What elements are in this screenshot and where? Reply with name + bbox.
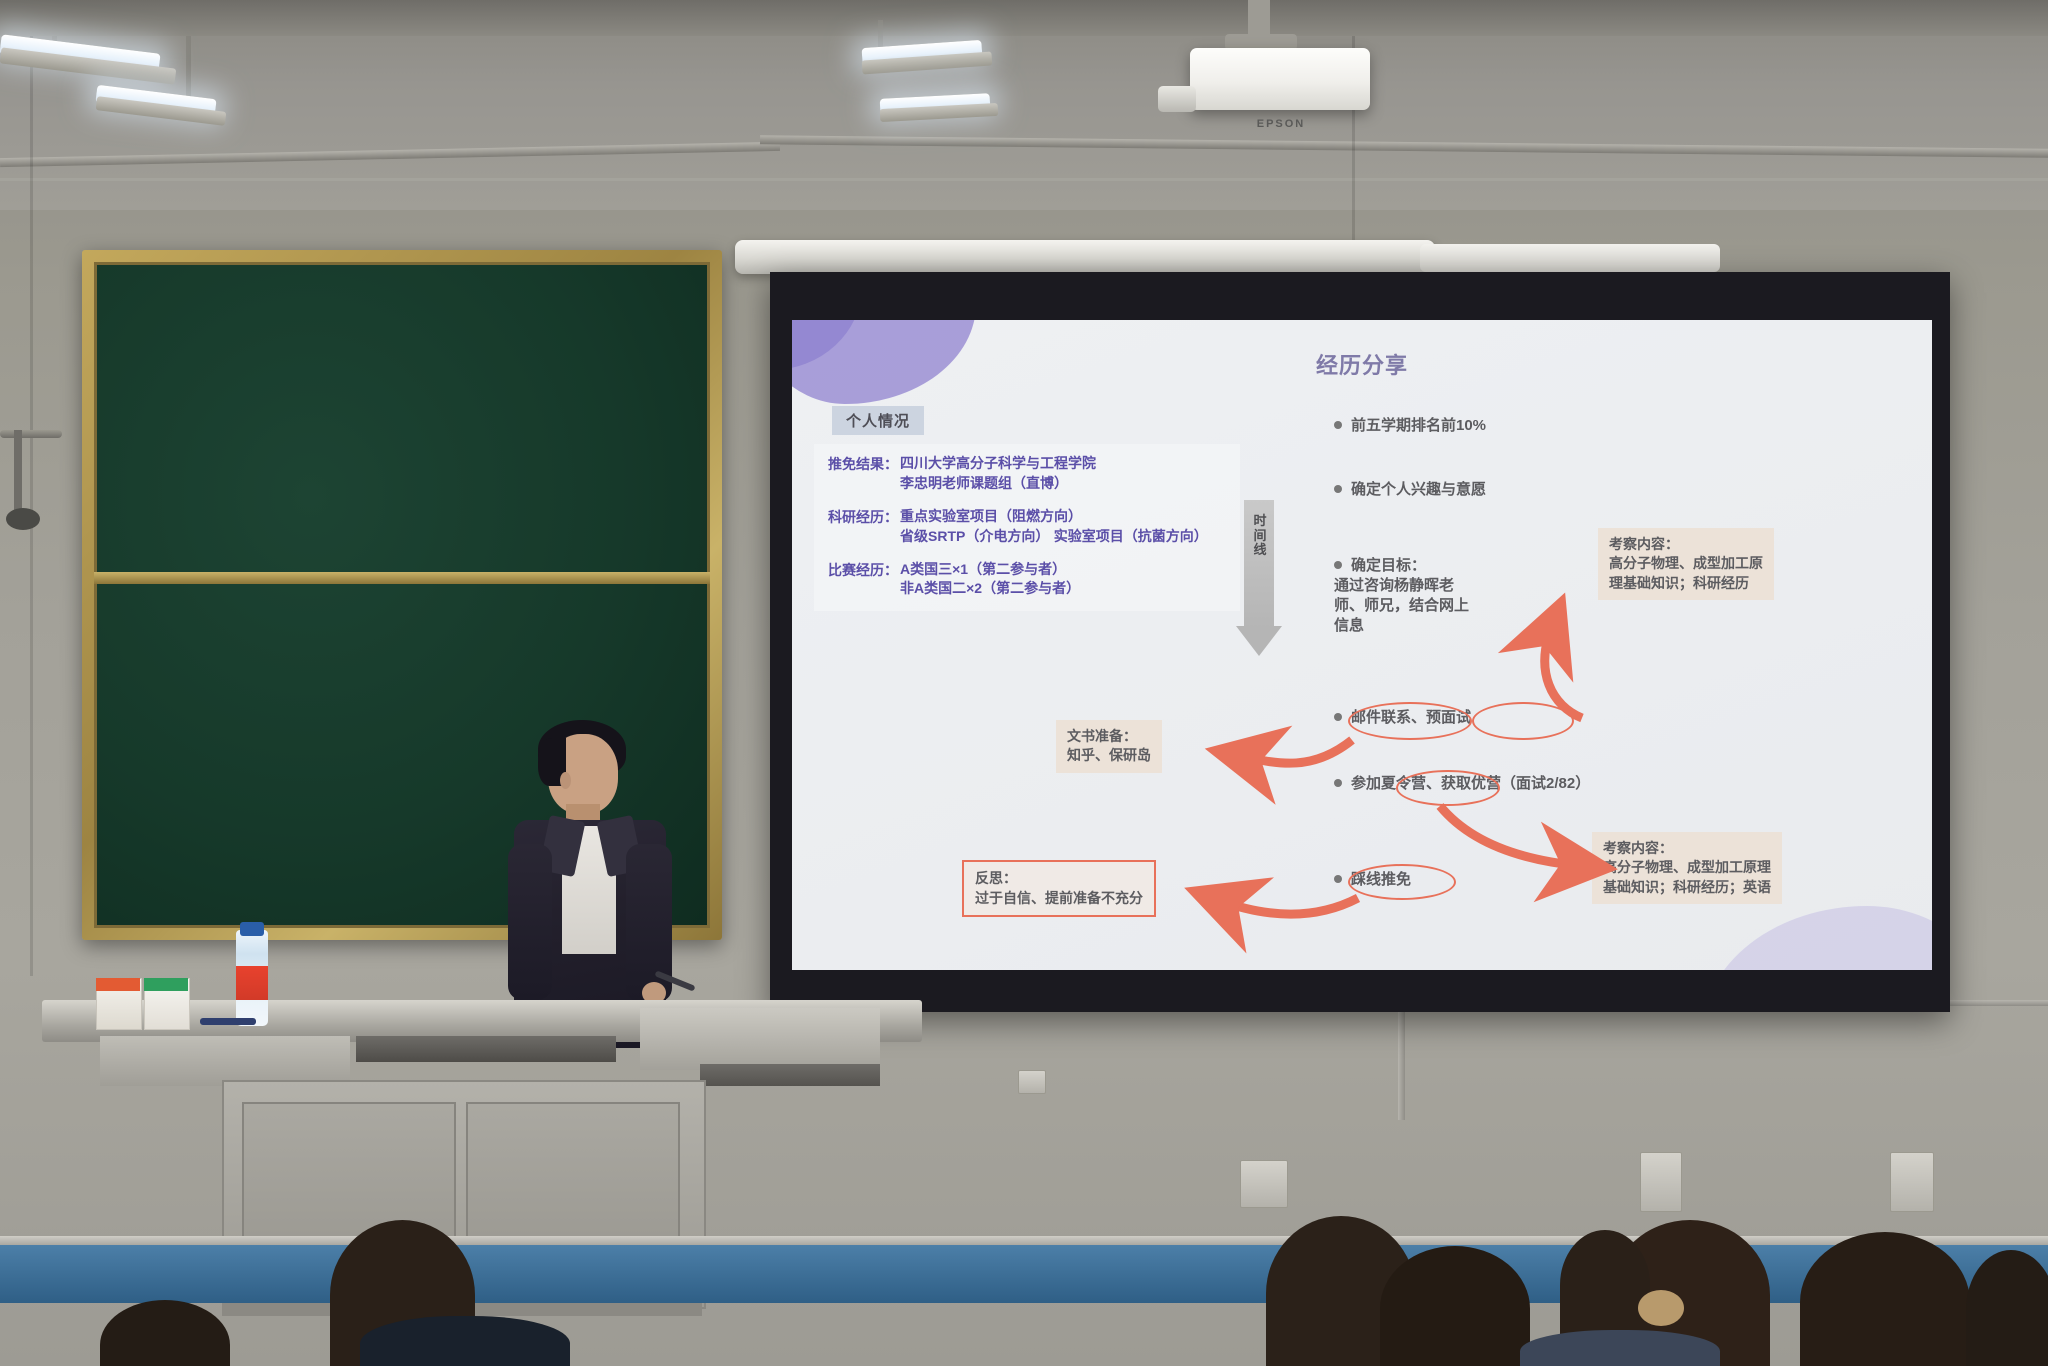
wall-trim-line: [0, 178, 2048, 181]
info-value: 省级SRTP（介电方向）: [900, 528, 1049, 544]
bullet-dot-icon: [1334, 561, 1342, 569]
info-value: 李忠明老师课题组（直博）: [900, 475, 1068, 491]
highlight-ellipse-admission: [1348, 864, 1456, 900]
box-reflection: 反思： 过于自信、提前准备不充分: [962, 860, 1156, 917]
bottle-cap: [240, 922, 264, 936]
highlight-ellipse-pre-interview: [1472, 702, 1574, 740]
audience-head-7: [1560, 1230, 1650, 1340]
box-line: 知乎、保研岛: [1067, 746, 1151, 765]
box-line: 过于自信、提前准备不充分: [975, 889, 1143, 909]
presenter-arm-left: [508, 844, 552, 1000]
timeline-arrow-head: [1236, 626, 1282, 656]
timeline-arrow: 时间线: [1244, 500, 1274, 660]
bullet-subline: 通过咨询杨静晖老: [1334, 576, 1469, 596]
bullet-dot-icon: [1334, 875, 1342, 883]
arrow-to-exam-lower: [1440, 806, 1582, 866]
audience-body-2: [1520, 1330, 1720, 1366]
bullet-goal: 确定目标： 通过咨询杨静晖老 师、师兄，结合网上 信息: [1334, 556, 1469, 636]
bullet-text: 前五学期排名前10%: [1351, 417, 1486, 434]
screen-roller-case: [735, 240, 1435, 274]
arrow-to-reflection: [1218, 898, 1358, 914]
box-line: 基础知识；科研经历；英语: [1603, 878, 1771, 897]
box-exam-content-upper: 考察内容： 高分子物理、成型加工原 理基础知识；科研经历: [1598, 528, 1774, 600]
wall-socket-2[interactable]: [1640, 1152, 1682, 1212]
projector-brand-label: EPSON: [1236, 118, 1326, 130]
bottle-label: [236, 966, 268, 1000]
info-value: 非A类国二×2（第二参与者）: [900, 580, 1080, 596]
bullet-dot-icon: [1334, 779, 1342, 787]
audience-head-8: [1966, 1250, 2048, 1366]
podium-side-panel: [100, 1036, 350, 1086]
ceiling-shadow-band: [0, 0, 2048, 36]
projector: [1190, 48, 1370, 110]
wall-socket-3[interactable]: [1890, 1152, 1934, 1212]
audience-body-1: [360, 1316, 570, 1366]
slide-decor-blob-bottom-right: [1702, 906, 1932, 970]
hair-clip: [1638, 1290, 1684, 1326]
box-exam-content-lower: 考察内容： 高分子物理、成型加工原理 基础知识；科研经历；英语: [1592, 832, 1782, 904]
info-value: 重点实验室项目（阻燃方向）: [900, 508, 1082, 524]
info-row-research: 科研经历： 重点实验室项目（阻燃方向） 省级SRTP（介电方向） 实验室项目（抗…: [828, 507, 1228, 547]
projector-lens: [1158, 86, 1196, 112]
chalk-box-left-lid: [96, 978, 140, 991]
bullet-subline: 信息: [1334, 616, 1469, 636]
projected-slide: 经历分享 个人情况 推免结果： 四川大学高分子科学与工程学院 李忠明老师课题组（…: [792, 320, 1932, 970]
box-line: 高分子物理、成型加工原理: [1603, 858, 1771, 877]
arrow-to-document-prep: [1240, 740, 1352, 763]
info-value: A类国三×1（第二参与者）: [900, 561, 1066, 577]
lamp-rod-3: [878, 20, 883, 50]
slide-title: 经历分享: [792, 348, 1932, 380]
box-line: 考察内容：: [1603, 839, 1771, 858]
info-row-admission: 推免结果： 四川大学高分子科学与工程学院 李忠明老师课题组（直博）: [828, 454, 1228, 494]
box-line: 文书准备：: [1067, 727, 1151, 746]
box-line: 考察内容：: [1609, 535, 1763, 554]
info-values-research: 重点实验室项目（阻燃方向） 省级SRTP（介电方向） 实验室项目（抗菌方向）: [900, 507, 1228, 547]
info-row-competition: 比赛经历： A类国三×1（第二参与者） 非A类国二×2（第二参与者）: [828, 560, 1228, 600]
bullet-dot-icon: [1334, 713, 1342, 721]
bullet-text: 确定个人兴趣与意愿: [1351, 481, 1486, 498]
board-arm-vertical: [14, 430, 22, 510]
box-document-prep: 文书准备： 知乎、保研岛: [1056, 720, 1162, 773]
info-key-research: 科研经历：: [828, 507, 898, 547]
wall-conduit-vertical: [1398, 1000, 1405, 1120]
classroom-photo: EPSON 经历分享 个人情况 推免结果： 四川大学高分子科学与工程学院 李忠明…: [0, 0, 2048, 1366]
wall-socket-small[interactable]: [1018, 1070, 1046, 1094]
bullet-text: 确定目标：: [1351, 557, 1426, 574]
box-line: 反思：: [975, 869, 1143, 889]
screen-roller-case-right: [1420, 244, 1720, 272]
box-line: 理基础知识；科研经历: [1609, 574, 1763, 593]
box-line: 高分子物理、成型加工原: [1609, 554, 1763, 573]
info-key-competition: 比赛经历：: [828, 560, 898, 600]
keyboard-tray-right: [700, 1064, 880, 1086]
highlight-ellipse-email: [1348, 702, 1472, 740]
wall-socket-1[interactable]: [1240, 1160, 1288, 1208]
bullet-dot-icon: [1334, 421, 1342, 429]
keyboard-tray: [356, 1036, 616, 1062]
timeline-label: 时间线: [1249, 514, 1271, 558]
personal-info-block: 推免结果： 四川大学高分子科学与工程学院 李忠明老师课题组（直博） 科研经历： …: [814, 444, 1240, 611]
board-knob[interactable]: [6, 508, 40, 530]
bullet-dot-icon: [1334, 485, 1342, 493]
marker-pen[interactable]: [200, 1018, 256, 1025]
presenter-ear: [560, 772, 571, 789]
chalk-box-right-lid: [144, 978, 188, 991]
info-values-admission: 四川大学高分子科学与工程学院 李忠明老师课题组（直博）: [900, 454, 1228, 494]
bullet-interest: 确定个人兴趣与意愿: [1334, 480, 1486, 500]
info-key-admission: 推免结果：: [828, 454, 898, 494]
info-values-competition: A类国三×1（第二参与者） 非A类国二×2（第二参与者）: [900, 560, 1228, 600]
highlight-ellipse-camp: [1396, 770, 1500, 806]
info-value: 实验室项目（抗菌方向）: [1054, 528, 1208, 544]
info-value: 四川大学高分子科学与工程学院: [900, 455, 1096, 471]
audience-head-4: [1380, 1246, 1530, 1366]
podium-right-wing: [640, 1008, 880, 1070]
personal-info-tag: 个人情况: [832, 406, 924, 435]
bullet-subline: 师、师兄，结合网上: [1334, 596, 1469, 616]
blackboard-divider: [94, 572, 710, 584]
wall-seam-left: [30, 36, 33, 976]
board-arm: [0, 430, 62, 438]
audience-head-6: [1800, 1232, 1970, 1366]
bullet-ranking: 前五学期排名前10%: [1334, 416, 1486, 436]
